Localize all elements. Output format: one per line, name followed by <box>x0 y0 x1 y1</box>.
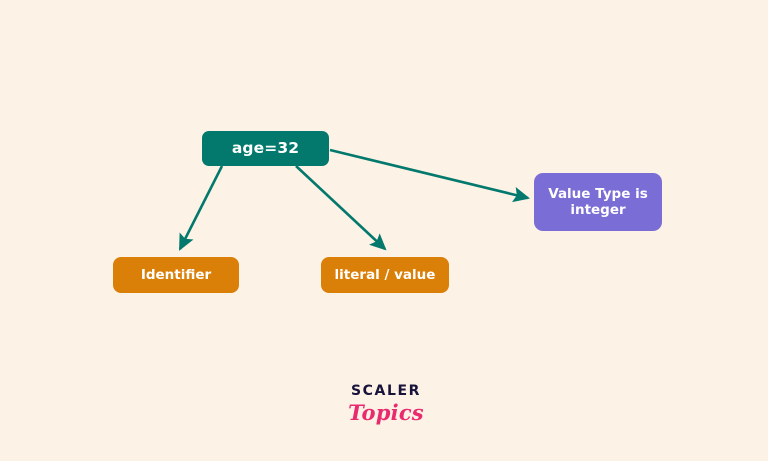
logo-secondary-text: Topics <box>343 400 429 425</box>
diagram-canvas: age=32 Value Type is integer Identifier … <box>0 0 768 461</box>
node-literal-value[interactable]: literal / value <box>321 257 449 293</box>
logo-primary-text: SCALER <box>343 383 429 399</box>
arrow-root-to-literal <box>296 166 385 249</box>
node-value-type-label: Value Type is integer <box>548 186 648 219</box>
node-value-type[interactable]: Value Type is integer <box>534 173 662 231</box>
scaler-topics-logo: SCALER Topics <box>343 383 429 429</box>
node-root-expression[interactable]: age=32 <box>202 131 329 166</box>
node-identifier-label: Identifier <box>141 267 211 283</box>
arrow-root-to-value-type <box>330 150 528 198</box>
node-identifier[interactable]: Identifier <box>113 257 239 293</box>
node-root-label: age=32 <box>232 139 299 158</box>
arrow-root-to-identifier <box>180 166 222 249</box>
node-literal-value-label: literal / value <box>335 267 436 283</box>
